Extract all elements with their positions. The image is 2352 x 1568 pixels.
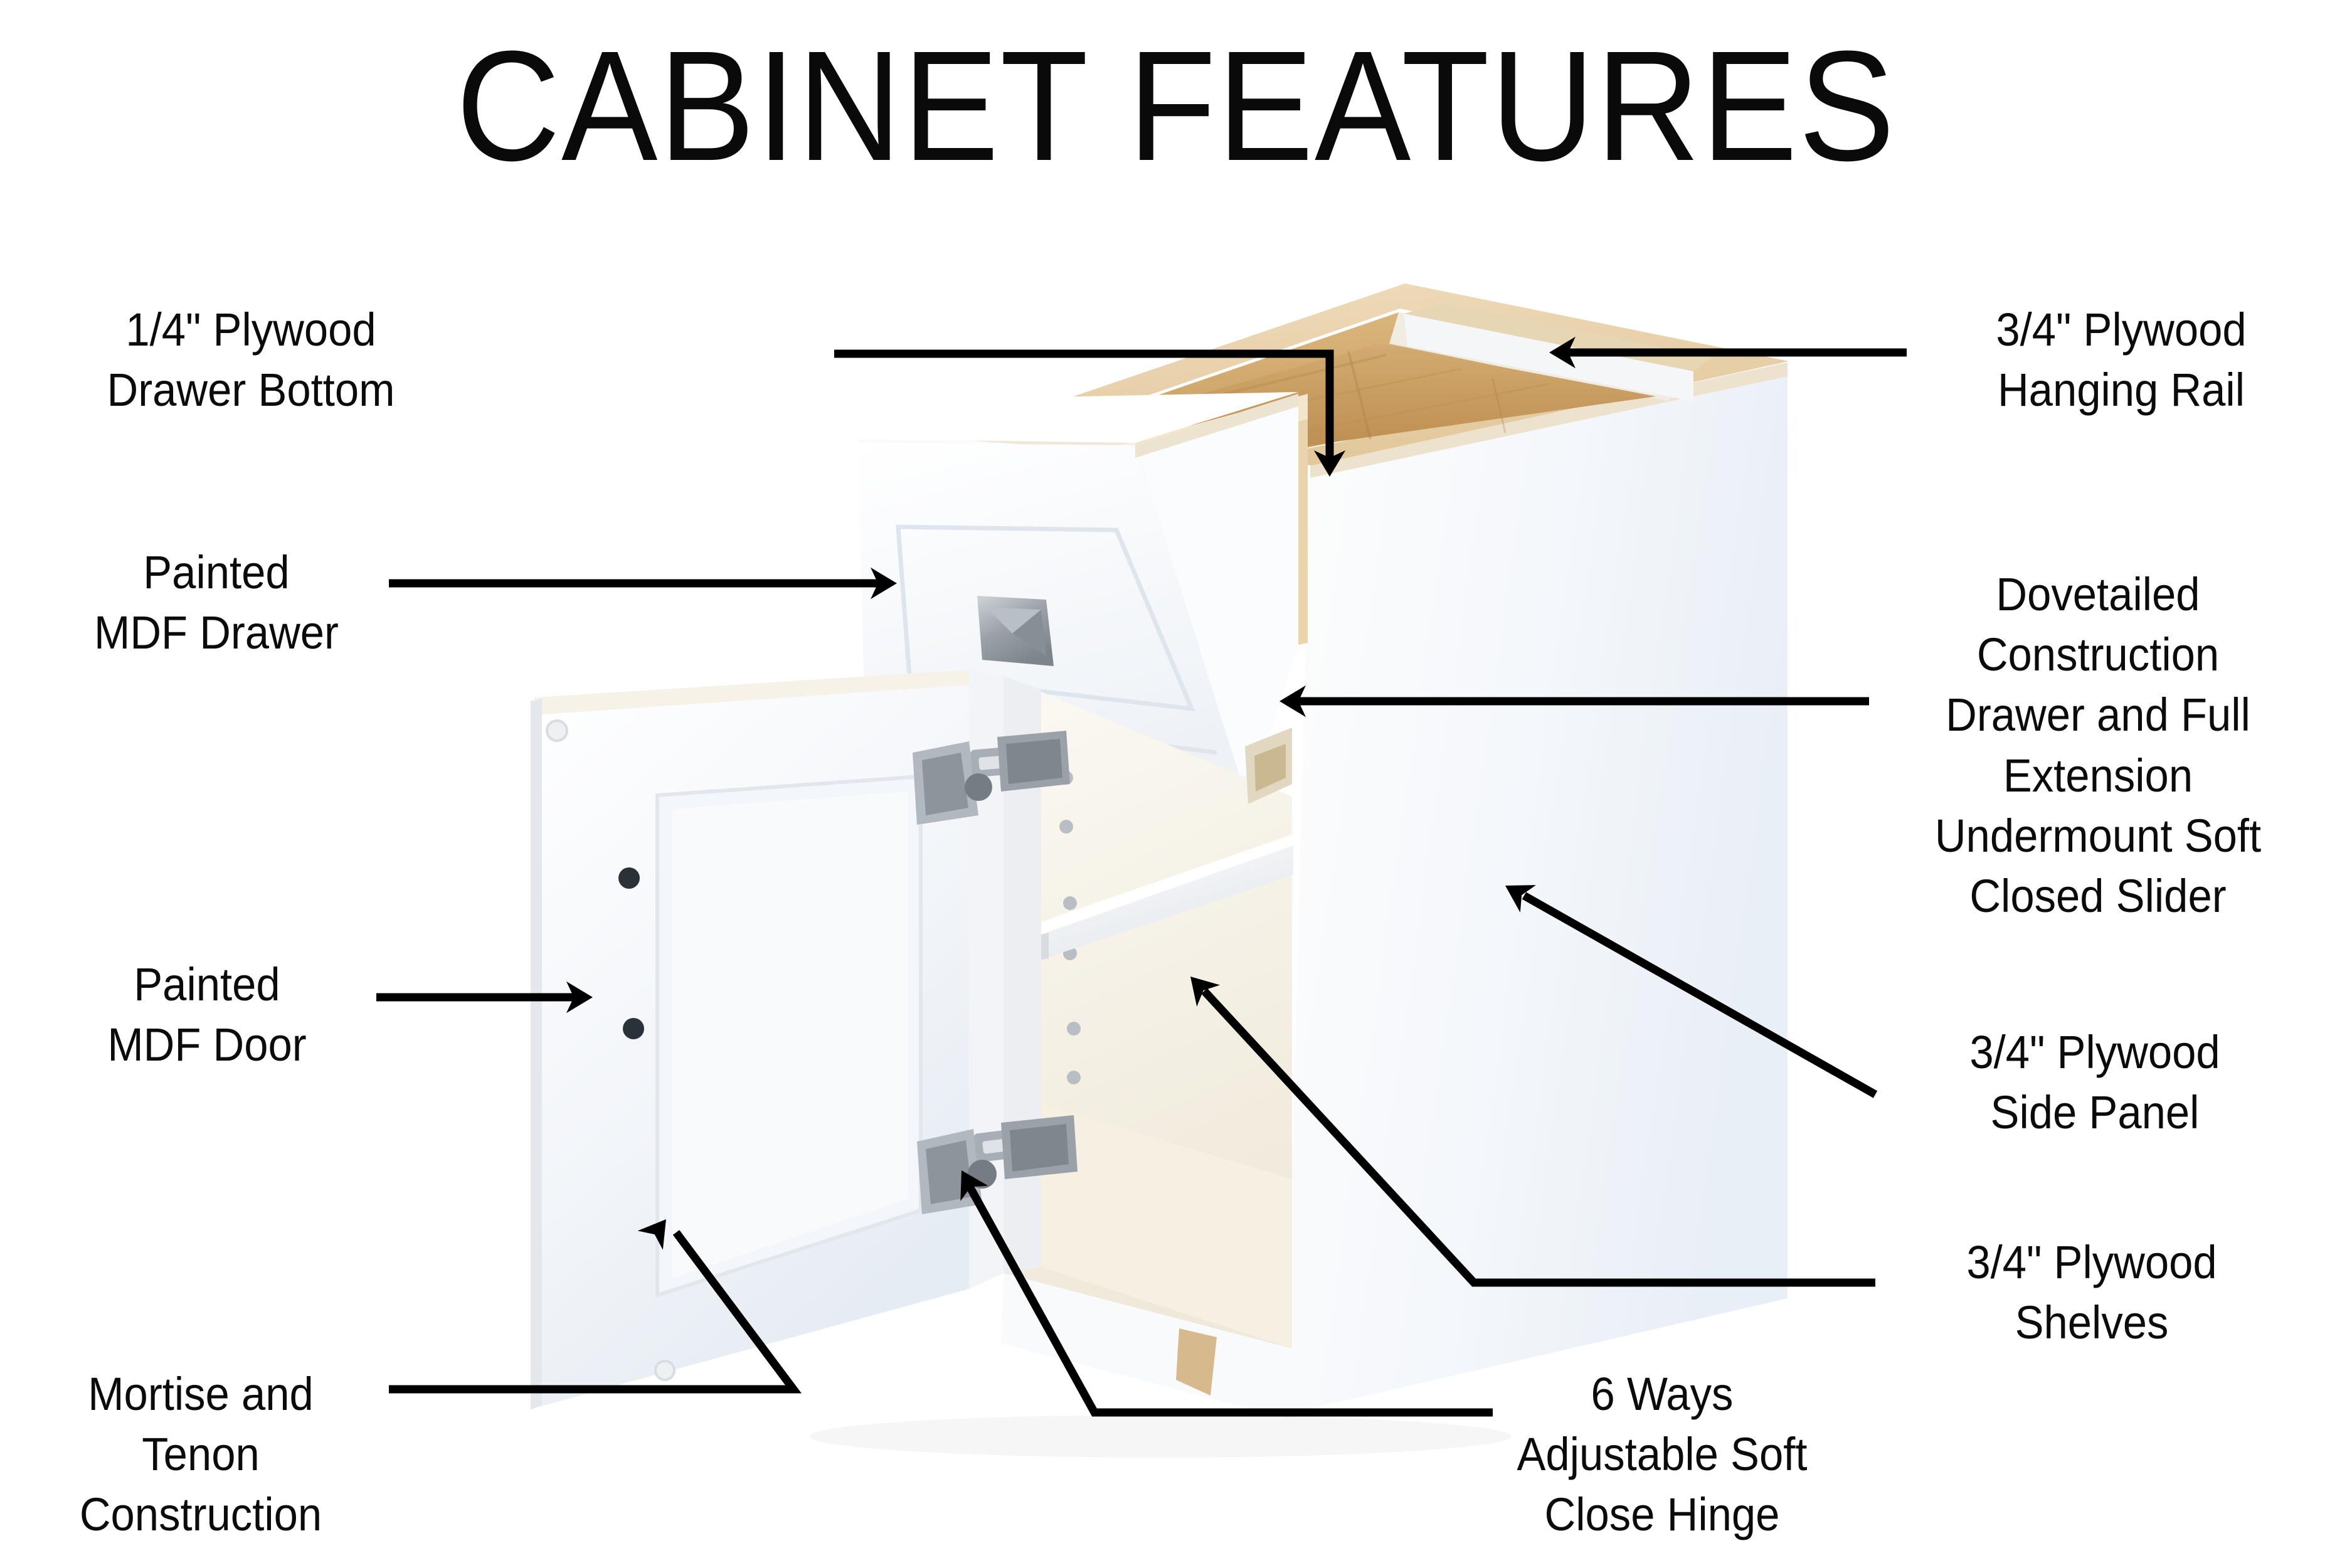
cabinet-illustration [0,0,2352,1568]
cabinet-side-panel [1286,363,1788,1414]
cabinet-door [531,670,969,1410]
drawer-knob [977,596,1054,666]
diagram-canvas: CABINET FEATURES [0,0,2352,1568]
